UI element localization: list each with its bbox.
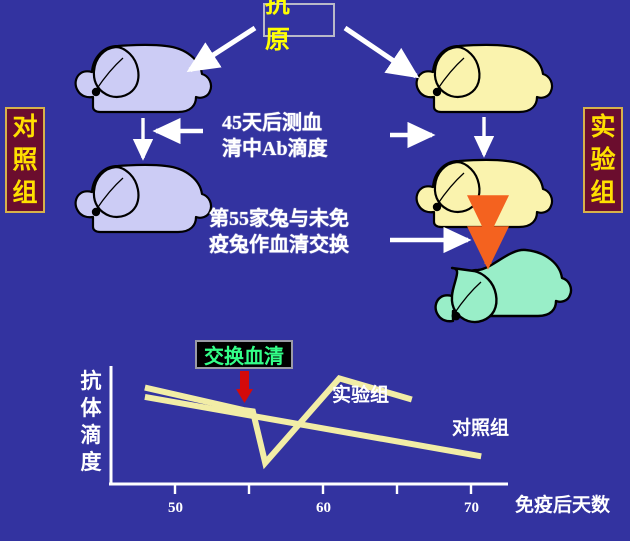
y-axis-char-4: 度 bbox=[78, 449, 104, 476]
series-label-experiment: 实验组 bbox=[332, 380, 389, 407]
control-rabbit-top bbox=[76, 45, 211, 112]
control-group-label: 对 照 组 bbox=[5, 107, 45, 213]
chart-x-axis-title: 免疫后天数 bbox=[515, 490, 610, 517]
y-axis-char-1: 抗 bbox=[78, 368, 104, 395]
chart-axes bbox=[109, 366, 508, 494]
experiment-group-label: 实 验 组 bbox=[583, 107, 623, 213]
measure-titer-text: 45天后测血 清中Ab滴度 bbox=[222, 110, 328, 162]
chart-y-axis-title: 抗 体 滴 度 bbox=[78, 368, 104, 476]
arrow-antigen-to-experiment bbox=[345, 28, 416, 76]
control-rabbit-bottom bbox=[76, 165, 211, 232]
x-tick-label-60: 60 bbox=[316, 500, 331, 517]
control-group-label-char-1: 对 bbox=[7, 111, 43, 144]
x-tick-label-70: 70 bbox=[464, 500, 479, 517]
arrow-antigen-to-control bbox=[190, 28, 255, 70]
series-label-control: 对照组 bbox=[452, 413, 509, 440]
experiment-group-label-char-3: 组 bbox=[585, 177, 621, 210]
x-tick-label-50: 50 bbox=[168, 500, 183, 517]
red-down-arrow bbox=[236, 371, 253, 403]
experiment-rabbit-top bbox=[417, 45, 552, 112]
experiment-group-label-char-2: 验 bbox=[585, 144, 621, 177]
control-group-label-char-2: 照 bbox=[7, 144, 43, 177]
control-group-label-char-3: 组 bbox=[7, 177, 43, 210]
naive-rabbit-green bbox=[436, 250, 571, 322]
swap-serum-callout: 交换血清 bbox=[195, 340, 293, 369]
diagram-canvas: 抗 原 对 照 组 实 验 组 45天后测血 清中Ab滴度 第55家兔与未免 疫… bbox=[0, 0, 630, 541]
y-axis-char-2: 体 bbox=[78, 395, 104, 422]
antigen-title-box: 抗 原 bbox=[263, 3, 335, 37]
serum-exchange-text: 第55家兔与未免 疫兔作血清交换 bbox=[209, 206, 349, 258]
y-axis-char-3: 滴 bbox=[78, 422, 104, 449]
experiment-rabbit-bottom bbox=[417, 160, 552, 227]
experiment-group-label-char-1: 实 bbox=[585, 111, 621, 144]
